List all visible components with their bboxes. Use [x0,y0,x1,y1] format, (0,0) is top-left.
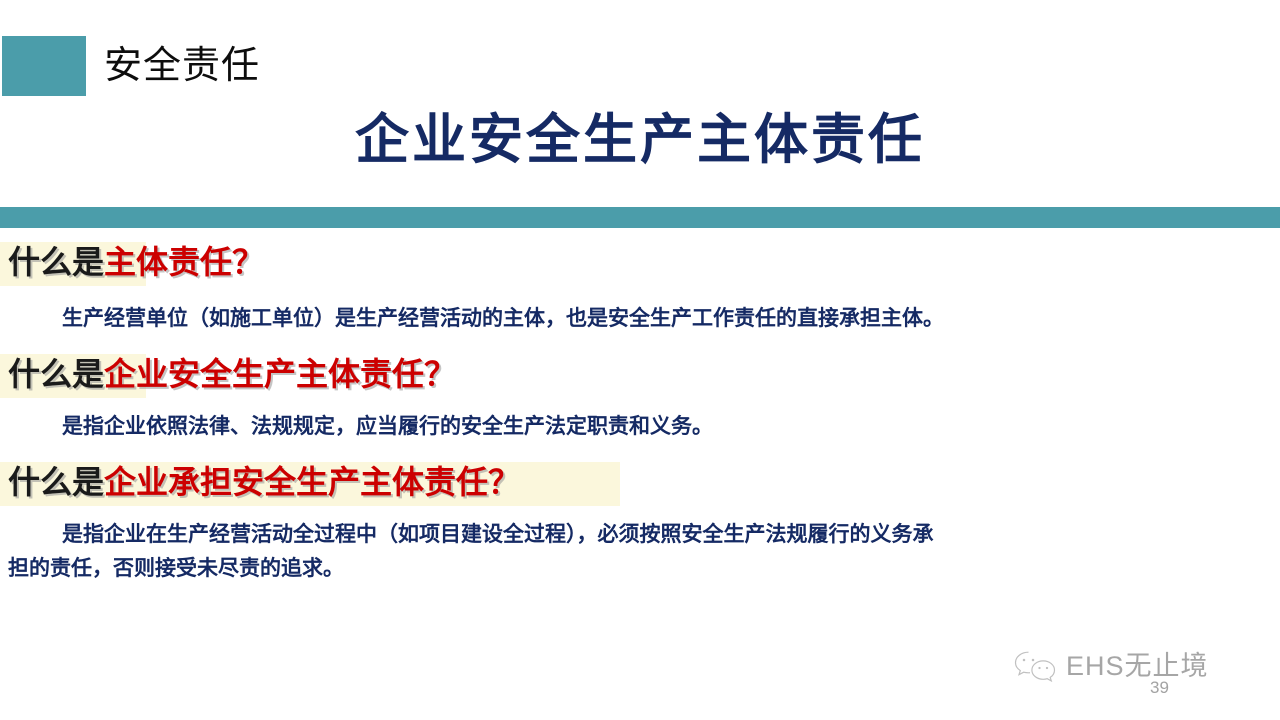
spacer [0,508,1280,518]
watermark-text: EHS无止境 [1066,650,1209,682]
slide-canvas: 安全责任 企业安全生产主体责任 什么是主体责任？ 生产经营单位（如施工单位）是生… [0,0,1280,720]
question-heading-3: 什么是企业承担安全生产主体责任？ [0,456,1280,508]
spacer [0,400,1280,410]
question-prefix-1: 什么是 [8,244,104,280]
content-body: 什么是主体责任？ 生产经营单位（如施工单位）是生产经营活动的主体，也是安全生产工… [0,236,1280,586]
header-accent-block [2,36,86,96]
answer-line-3-1: 是指企业在生产经营活动全过程中（如项目建设全过程），必须按照安全生产法规履行的义… [0,518,1280,552]
page-number: 39 [1150,678,1169,698]
question-prefix-2: 什么是 [8,356,104,392]
question-emphasis-3: 企业承担安全生产主体责任？ [104,464,520,500]
question-heading-2: 什么是企业安全生产主体责任？ [0,348,1280,400]
watermark: EHS无止境 [1012,650,1209,682]
answer-line-1-1: 生产经营单位（如施工单位）是生产经营活动的主体，也是安全生产工作责任的直接承担主… [0,302,1280,336]
spacer [0,288,1280,302]
question-prefix-3: 什么是 [8,464,104,500]
answer-line-2-1: 是指企业依照法律、法规规定，应当履行的安全生产法定职责和义务。 [0,410,1280,444]
question-emphasis-1: 主体责任？ [104,244,264,280]
question-heading-1: 什么是主体责任？ [0,236,1280,288]
header-divider-bar [0,207,1280,228]
spacer [0,444,1280,456]
answer-line-3-2: 担的责任，否则接受未尽责的追求。 [0,552,1280,586]
page-title: 企业安全生产主体责任 [0,104,1280,176]
spacer [0,336,1280,348]
header-kicker: 安全责任 [104,38,260,94]
question-emphasis-2: 企业安全生产主体责任？ [104,356,456,392]
wechat-icon [1012,650,1058,682]
